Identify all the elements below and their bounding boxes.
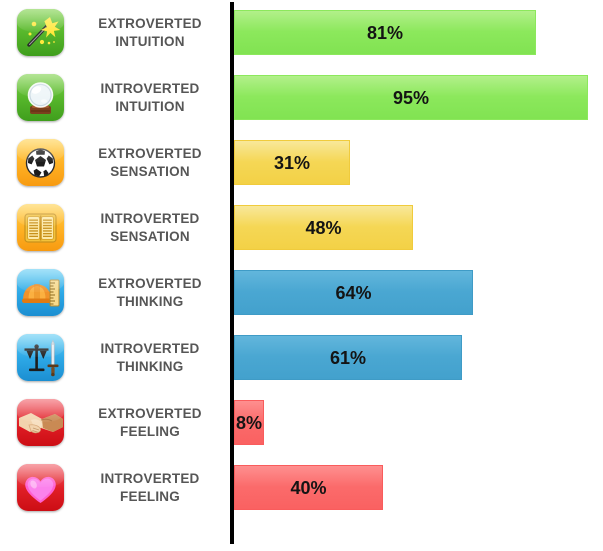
row-label-line1: EXTROVERTED — [98, 405, 201, 423]
row-label-line1: INTROVERTED — [101, 210, 200, 228]
row-icon-cell — [17, 464, 64, 511]
row-label-line1: INTROVERTED — [101, 80, 200, 98]
row-label-line1: INTROVERTED — [101, 340, 200, 358]
row-label: INTROVERTED SENSATION — [76, 195, 224, 260]
bar-value-label: 64% — [235, 271, 472, 316]
row-label-line2: SENSATION — [110, 228, 190, 246]
bar-track: 40% — [234, 465, 383, 510]
row-label: INTROVERTED INTUITION — [76, 65, 224, 130]
chart-row: EXTROVERTED FEELING 8% — [0, 390, 603, 455]
chart-row: EXTROVERTED INTUITION 81% — [0, 0, 603, 65]
row-label: INTROVERTED FEELING — [76, 455, 224, 520]
bar-track: 48% — [234, 205, 413, 250]
bar-value-label: 61% — [235, 336, 461, 381]
row-icon-cell — [17, 399, 64, 446]
cognitive-functions-bar-chart: EXTROVERTED INTUITION 81% — [0, 0, 603, 551]
pink-heart-icon — [17, 464, 64, 511]
bar-track: 81% — [234, 10, 536, 55]
soccer-ball-icon — [17, 139, 64, 186]
row-label-line2: INTUITION — [115, 98, 184, 116]
row-icon-cell — [17, 269, 64, 316]
bar-value-label: 95% — [235, 76, 587, 121]
row-label: EXTROVERTED THINKING — [76, 260, 224, 325]
row-label: INTROVERTED THINKING — [76, 325, 224, 390]
bar-track: 61% — [234, 335, 462, 380]
row-icon-cell — [17, 9, 64, 56]
chart-row: INTROVERTED INTUITION 95% — [0, 65, 603, 130]
bar[interactable]: 64% — [234, 270, 473, 315]
row-label-line2: FEELING — [120, 488, 180, 506]
row-label: EXTROVERTED SENSATION — [76, 130, 224, 195]
crystal-ball-icon — [17, 74, 64, 121]
row-label-line2: FEELING — [120, 423, 180, 441]
bar-value-label: 40% — [235, 466, 382, 511]
row-icon-cell — [17, 204, 64, 251]
row-label: EXTROVERTED FEELING — [76, 390, 224, 455]
bar-track: 95% — [234, 75, 588, 120]
row-icon-cell — [17, 74, 64, 121]
row-label-line2: THINKING — [117, 358, 184, 376]
bar-value-label: 48% — [235, 206, 412, 251]
chart-row: INTROVERTED SENSATION 48% — [0, 195, 603, 260]
row-icon-cell — [17, 334, 64, 381]
scales-sword-icon — [17, 334, 64, 381]
bar[interactable]: 95% — [234, 75, 588, 120]
bar[interactable]: 31% — [234, 140, 350, 185]
bar[interactable]: 81% — [234, 10, 536, 55]
chart-row: INTROVERTED THINKING 61% — [0, 325, 603, 390]
row-label-line2: THINKING — [117, 293, 184, 311]
bar-track: 8% — [234, 400, 264, 445]
handshake-icon — [17, 399, 64, 446]
row-label-line1: EXTROVERTED — [98, 275, 201, 293]
bar-value-label: 8% — [235, 401, 263, 446]
row-label-line1: INTROVERTED — [101, 470, 200, 488]
chart-row: EXTROVERTED SENSATION 31% — [0, 130, 603, 195]
chart-row: EXTROVERTED THINKING 64% — [0, 260, 603, 325]
open-book-icon — [17, 204, 64, 251]
row-label-line1: EXTROVERTED — [98, 145, 201, 163]
row-label: EXTROVERTED INTUITION — [76, 0, 224, 65]
row-label-line2: INTUITION — [115, 33, 184, 51]
vertical-axis-line — [230, 2, 234, 544]
chart-row: INTROVERTED FEELING 40% — [0, 455, 603, 520]
bar-track: 31% — [234, 140, 350, 185]
row-icon-cell — [17, 139, 64, 186]
row-label-line1: EXTROVERTED — [98, 15, 201, 33]
magic-wand-icon — [17, 9, 64, 56]
row-label-line2: SENSATION — [110, 163, 190, 181]
bar-value-label: 81% — [235, 11, 535, 56]
bar[interactable]: 40% — [234, 465, 383, 510]
bar[interactable]: 8% — [234, 400, 264, 445]
hard-hat-ruler-icon — [17, 269, 64, 316]
bar[interactable]: 48% — [234, 205, 413, 250]
bar[interactable]: 61% — [234, 335, 462, 380]
bar-value-label: 31% — [235, 141, 349, 186]
bar-track: 64% — [234, 270, 473, 315]
